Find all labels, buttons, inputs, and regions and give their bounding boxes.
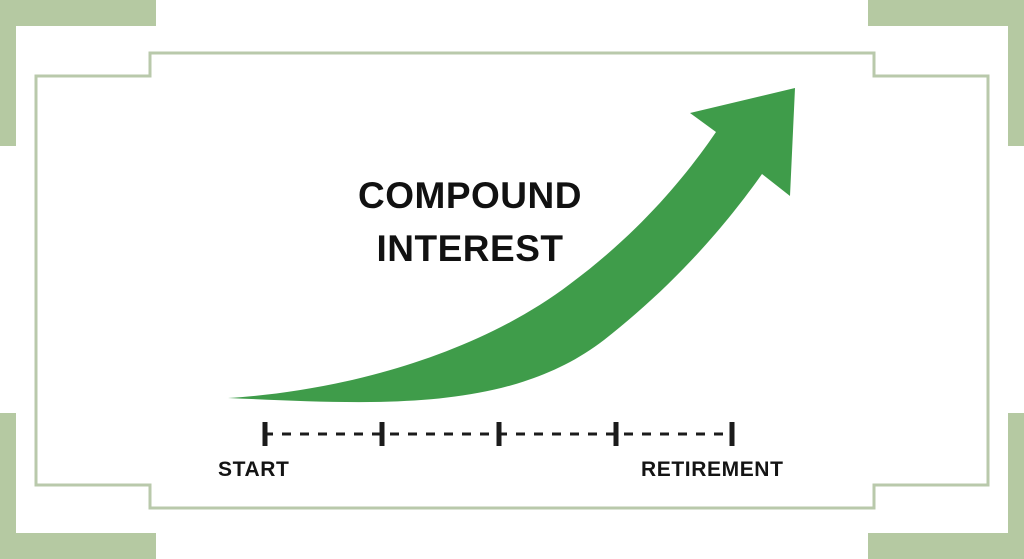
axis-label-retirement: RETIREMENT: [641, 458, 784, 482]
infographic-canvas: COMPOUND INTEREST START RETIREMENT: [0, 0, 1024, 559]
axis-label-start: START: [218, 458, 289, 482]
content-card: [58, 32, 966, 527]
bracket-arm-horizontal: [0, 533, 156, 559]
bracket-arm-horizontal: [0, 0, 156, 26]
bracket-arm-vertical: [0, 0, 16, 146]
bracket-arm-horizontal: [868, 0, 1024, 26]
bracket-arm-horizontal: [868, 533, 1024, 559]
bracket-arm-vertical: [1008, 413, 1024, 559]
bracket-arm-vertical: [1008, 0, 1024, 146]
bracket-arm-vertical: [0, 413, 16, 559]
title-line-2: INTEREST: [255, 223, 685, 276]
dashed-timeline-axis-icon: [258, 419, 738, 449]
timeline-axis: [258, 419, 738, 449]
title-line-1: COMPOUND: [255, 170, 685, 223]
page-title: COMPOUND INTEREST: [255, 170, 685, 275]
